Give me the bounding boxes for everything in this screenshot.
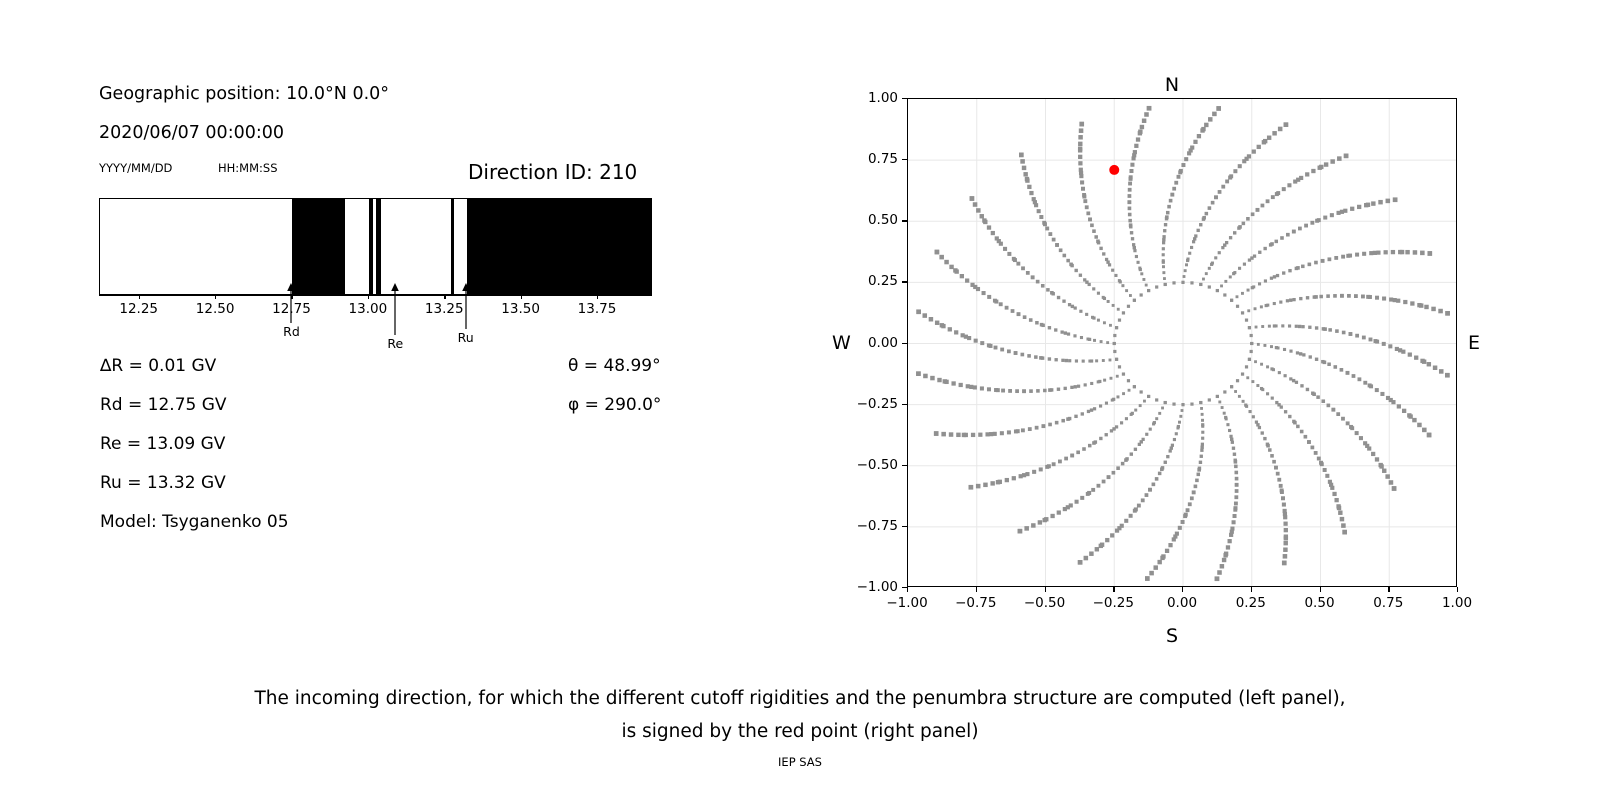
direction-dot	[1176, 426, 1179, 429]
direction-dot	[1103, 379, 1106, 382]
direction-dot	[1223, 412, 1226, 415]
direction-dot	[1184, 269, 1187, 272]
direction-dot	[1281, 324, 1284, 327]
direction-dot	[1173, 438, 1176, 441]
direction-dot	[1172, 403, 1175, 406]
direction-dot	[1361, 295, 1365, 299]
direction-dot	[1218, 251, 1221, 254]
direction-dot	[1323, 468, 1327, 472]
direction-dot	[1110, 533, 1114, 537]
direction-dot	[1276, 472, 1280, 476]
direction-dot	[970, 283, 974, 287]
direction-dot	[1079, 174, 1083, 178]
direction-dot	[1078, 142, 1082, 146]
direction-dot	[1044, 517, 1048, 521]
arrow-up-icon	[456, 283, 476, 329]
direction-dot	[1105, 402, 1108, 405]
direction-dot	[1268, 448, 1272, 452]
direction-dot	[1068, 359, 1071, 362]
direction-dot	[1108, 263, 1111, 266]
direction-dot	[1299, 176, 1303, 180]
direction-dot	[1093, 339, 1096, 342]
direction-dot	[1375, 388, 1379, 392]
direction-dot	[1190, 145, 1194, 149]
delta-r-value: ∆R = 0.01 GV	[100, 356, 216, 376]
x-axis-tick-label: −0.25	[1093, 595, 1134, 611]
direction-dot	[1255, 421, 1258, 424]
direction-dot	[1105, 258, 1108, 261]
x-axis-tick-label: −1.00	[886, 595, 927, 611]
x-axis-tick	[1457, 587, 1458, 592]
direction-dot	[1147, 395, 1150, 398]
y-axis-tick	[902, 404, 907, 405]
direction-dot	[1276, 274, 1279, 277]
direction-dot	[1306, 296, 1309, 299]
direction-dot	[1414, 356, 1418, 360]
direction-dot	[1048, 326, 1051, 329]
direction-dot	[1347, 294, 1351, 298]
direction-dot	[1005, 306, 1009, 310]
direction-dot	[1192, 490, 1196, 494]
compass-south-label: S	[1166, 625, 1178, 647]
direction-dot	[987, 225, 991, 229]
direction-dot	[1214, 256, 1217, 259]
direction-dot	[1230, 438, 1233, 441]
direction-dot	[1309, 355, 1312, 358]
direction-dot	[1031, 275, 1035, 279]
direction-dot	[1261, 325, 1264, 328]
direction-dot	[1097, 241, 1100, 244]
direction-dot	[1225, 417, 1228, 420]
direction-dot	[1116, 375, 1119, 378]
direction-dot	[1233, 514, 1237, 518]
direction-dot	[1066, 259, 1070, 263]
direction-dot	[1288, 269, 1291, 272]
direction-dot	[1080, 180, 1084, 184]
ru-value: Ru = 13.32 GV	[100, 473, 226, 493]
direction-dot	[1211, 201, 1215, 205]
direction-dot	[1427, 433, 1432, 438]
direction-dot	[1007, 430, 1011, 434]
direction-dot	[1330, 213, 1334, 217]
direction-dot	[1375, 296, 1379, 300]
cutoff-marker-label: Rd	[261, 324, 321, 339]
direction-dot	[1022, 389, 1026, 393]
direction-dot	[1238, 395, 1241, 398]
direction-dot	[1233, 271, 1236, 274]
direction-dot	[1105, 538, 1109, 542]
direction-dot	[1140, 272, 1143, 275]
direction-dot	[1289, 298, 1292, 301]
direction-dot	[1215, 576, 1220, 581]
direction-dot	[1106, 341, 1109, 344]
direction-dot	[1220, 564, 1224, 568]
direction-dot	[1172, 537, 1176, 541]
y-axis-tick-label: −1.00	[857, 579, 898, 595]
direction-dot	[1342, 530, 1347, 535]
direction-dot	[1162, 235, 1165, 238]
direction-dot	[1001, 389, 1005, 393]
direction-dot	[1286, 233, 1290, 237]
penumbra-forbidden-band	[376, 199, 381, 294]
arrow-up-icon	[281, 283, 301, 323]
direction-dot	[1216, 106, 1221, 111]
direction-dot	[1134, 409, 1137, 412]
direction-dot	[1253, 254, 1256, 257]
direction-dot	[1296, 351, 1299, 354]
direction-dot	[1307, 440, 1311, 444]
direction-dot	[999, 302, 1003, 306]
direction-dot	[1251, 380, 1254, 383]
direction-dot	[1336, 504, 1340, 508]
direction-dot	[1271, 397, 1274, 400]
direction-dot	[1382, 469, 1386, 473]
direction-dot	[987, 387, 991, 391]
y-axis-tick	[902, 159, 907, 160]
direction-dot	[1308, 326, 1311, 329]
direction-dot	[973, 202, 978, 207]
direction-dot	[1266, 365, 1269, 368]
direction-dot	[1199, 401, 1202, 404]
direction-dot	[1254, 307, 1257, 310]
direction-dot	[1021, 428, 1025, 432]
direction-dot	[1295, 267, 1298, 270]
direction-dot	[1193, 140, 1197, 144]
direction-dot	[1127, 200, 1131, 204]
direction-dot	[987, 295, 991, 299]
direction-dot	[1199, 461, 1202, 464]
direction-dot	[1202, 217, 1205, 220]
direction-dot	[1417, 303, 1421, 307]
direction-dot	[1335, 329, 1339, 333]
direction-dot	[1130, 413, 1133, 416]
direction-dot	[1311, 169, 1315, 173]
direction-dot	[1445, 373, 1450, 378]
direction-dot	[954, 330, 958, 334]
direction-dot	[1073, 334, 1076, 337]
direction-dot	[1165, 217, 1168, 220]
direction-dot	[1252, 149, 1256, 153]
direction-dot	[1181, 403, 1184, 406]
direction-dot	[1246, 376, 1249, 379]
direction-dot	[1155, 285, 1158, 288]
direction-dot	[1166, 455, 1169, 458]
geographic-position-label: Geographic position: 10.0°N 0.0°	[99, 84, 389, 104]
direction-dot	[1218, 190, 1222, 194]
direction-dot	[1405, 250, 1409, 254]
direction-dot	[1129, 175, 1133, 179]
direction-dot	[1318, 166, 1322, 170]
direction-dot	[1200, 455, 1203, 458]
direction-dot	[1034, 355, 1038, 359]
caption-line-1: The incoming direction, for which the di…	[0, 682, 1600, 715]
direction-dot	[1162, 241, 1165, 244]
direction-dot	[1252, 285, 1255, 288]
direction-dot	[1427, 362, 1431, 366]
direction-dot	[1064, 457, 1068, 461]
direction-dot	[1354, 294, 1358, 298]
direction-dot	[1199, 283, 1202, 286]
direction-dot	[1352, 374, 1356, 378]
direction-dot	[1124, 519, 1128, 523]
direction-dot	[1316, 395, 1320, 399]
direction-dot	[1357, 205, 1361, 209]
direction-dot	[983, 483, 987, 487]
direction-dot	[1241, 372, 1244, 375]
direction-dot	[1095, 547, 1099, 551]
direction-dot	[1133, 246, 1136, 249]
direction-dot	[1042, 221, 1046, 225]
x-axis-tick	[1388, 587, 1389, 592]
direction-dot	[1181, 409, 1184, 412]
direction-dot	[1278, 371, 1281, 374]
direction-dot	[1275, 324, 1278, 327]
direction-dot	[1172, 281, 1175, 284]
direction-dot	[1064, 331, 1067, 334]
direction-dot	[1266, 304, 1269, 307]
direction-dot	[1055, 243, 1059, 247]
direction-dot	[1283, 348, 1286, 351]
direction-dot	[1078, 155, 1082, 159]
direction-dot	[1079, 274, 1082, 277]
direction-dot	[1427, 251, 1432, 256]
direction-dot	[1035, 426, 1039, 430]
direction-dot	[1238, 164, 1242, 168]
direction-dot	[982, 291, 986, 295]
direction-dot	[1230, 385, 1233, 388]
direction-dot	[1061, 419, 1065, 423]
direction-dot	[1152, 483, 1156, 487]
direction-dot	[1125, 289, 1128, 292]
direction-dot	[1300, 384, 1303, 387]
direction-dot	[1134, 448, 1137, 451]
direction-dot	[1057, 510, 1061, 514]
direction-dot	[1084, 556, 1089, 561]
direction-dot	[1059, 248, 1063, 252]
direction-dot	[1412, 418, 1416, 422]
direction-dot	[1092, 287, 1095, 290]
direction-dot	[916, 309, 921, 314]
direction-dot	[1183, 275, 1186, 278]
direction-dot	[1226, 423, 1229, 426]
direction-dot	[1175, 432, 1178, 435]
direction-dot	[1233, 508, 1237, 512]
direction-dot	[1217, 570, 1222, 575]
direction-dot	[1258, 426, 1261, 429]
direction-dot	[1128, 213, 1132, 217]
direction-dot	[1082, 447, 1086, 451]
direction-dot	[980, 341, 984, 345]
direction-dot	[929, 317, 933, 321]
direction-dot	[1327, 404, 1331, 408]
direction-dot	[1280, 236, 1284, 240]
direction-dot	[1029, 389, 1033, 393]
direction-dot	[1050, 514, 1054, 518]
compass-west-label: W	[832, 332, 851, 354]
selected-direction-point[interactable]	[1109, 165, 1119, 175]
direction-dot	[1295, 381, 1298, 384]
direction-dot	[1145, 493, 1149, 497]
axis-tick	[215, 295, 216, 299]
direction-dot	[1276, 346, 1279, 349]
direction-dot	[1079, 128, 1084, 133]
direction-dot	[916, 371, 921, 376]
direction-dot	[1116, 395, 1119, 398]
direction-dot	[980, 386, 984, 390]
direction-dot	[1177, 175, 1181, 179]
direction-dot	[1380, 392, 1384, 396]
direction-dot	[1060, 330, 1063, 333]
x-axis-tick-label: −0.50	[1024, 595, 1065, 611]
direction-dot	[1304, 224, 1308, 228]
direction-dot	[1257, 145, 1261, 149]
direction-dot	[1266, 443, 1269, 446]
direction-dot	[1132, 243, 1135, 246]
direction-dot	[1324, 162, 1328, 166]
direction-dot	[1327, 362, 1331, 366]
direction-dot	[1086, 338, 1089, 341]
direction-dot	[1088, 444, 1092, 448]
direction-dot	[1162, 247, 1165, 250]
direction-dot	[1078, 148, 1082, 152]
direction-dot	[1162, 271, 1165, 274]
direction-dot	[985, 432, 989, 436]
direction-dot	[1188, 502, 1192, 506]
direction-dot	[1023, 172, 1027, 176]
direction-dot	[1170, 193, 1174, 197]
direction-dot	[1083, 199, 1087, 203]
direction-dot	[939, 255, 944, 260]
direction-dot	[1284, 541, 1288, 545]
direction-dot	[1284, 122, 1289, 127]
direction-dot	[1340, 368, 1344, 372]
direction-dot	[1301, 265, 1305, 269]
direction-dot	[941, 432, 946, 437]
direction-dot	[1043, 389, 1047, 393]
direction-dot	[1330, 486, 1334, 490]
direction-dot	[1149, 571, 1154, 576]
direction-dot	[1114, 274, 1117, 277]
direction-dot	[1439, 369, 1444, 374]
x-axis-tick	[1251, 587, 1252, 592]
direction-dot	[1392, 486, 1397, 491]
direction-dot	[1029, 318, 1033, 322]
direction-dot	[1395, 347, 1399, 351]
direction-dot	[1305, 172, 1309, 176]
direction-dot	[1164, 283, 1167, 286]
penumbra-forbidden-band	[451, 199, 454, 294]
direction-dot	[1095, 359, 1098, 362]
direction-dot	[1272, 131, 1276, 135]
direction-dot	[1389, 480, 1394, 485]
cutoff-marker-label: Re	[365, 336, 425, 351]
direction-dot	[1130, 163, 1134, 167]
direction-dot	[1341, 255, 1345, 259]
direction-dot	[1021, 353, 1025, 357]
direction-dot	[1241, 311, 1244, 314]
direction-dot	[1346, 371, 1350, 375]
direction-dot	[1052, 238, 1056, 242]
direction-dot	[1379, 463, 1383, 467]
direction-dot	[1201, 425, 1204, 428]
direction-dot	[1069, 503, 1073, 507]
direction-dot	[1193, 237, 1196, 240]
direction-dot	[1113, 350, 1116, 353]
direction-dot	[1149, 428, 1152, 431]
direction-dot	[922, 313, 927, 318]
direction-dot	[1000, 348, 1004, 352]
direction-dot	[1078, 135, 1082, 139]
direction-dot	[1433, 366, 1437, 370]
direction-dot	[1403, 300, 1407, 304]
axis-tick-label: 13.50	[501, 301, 540, 317]
direction-dot	[1233, 231, 1236, 234]
direction-dot	[1112, 471, 1116, 475]
direction-dot	[1190, 281, 1193, 284]
direction-dot	[1250, 342, 1253, 345]
direction-dot	[1023, 315, 1027, 319]
cutoff-marker-rd: Rd	[261, 283, 321, 339]
direction-dot	[1129, 294, 1132, 297]
direction-dot	[1375, 340, 1379, 344]
direction-dot	[1417, 423, 1421, 427]
direction-dot	[1029, 191, 1033, 195]
direction-dot	[1140, 125, 1144, 129]
direction-dot	[1263, 437, 1266, 440]
direction-dot	[1250, 334, 1253, 337]
direction-dot	[1162, 253, 1165, 256]
direction-dot	[1011, 309, 1015, 313]
direction-dot	[1367, 446, 1371, 450]
direction-dot	[1289, 350, 1292, 353]
direction-dot	[1118, 319, 1121, 322]
direction-dot	[1273, 275, 1276, 278]
direction-dot	[1332, 492, 1336, 496]
direction-dot	[1431, 307, 1435, 311]
direction-dot	[1063, 254, 1067, 258]
direction-dot	[1279, 301, 1282, 304]
direction-dot	[1158, 412, 1161, 415]
direction-dot	[965, 278, 969, 282]
direction-dot	[1140, 293, 1143, 296]
direction-dot	[1109, 324, 1112, 327]
direction-dot	[1420, 359, 1424, 363]
y-axis-tick	[902, 465, 907, 466]
direction-dot	[1097, 319, 1100, 322]
direction-dot	[1328, 257, 1332, 261]
direction-dot	[1061, 359, 1064, 362]
direction-dot	[1155, 398, 1158, 401]
direction-dot	[1130, 231, 1133, 234]
direction-dot	[1014, 351, 1018, 355]
direction-dot	[1328, 480, 1332, 484]
direction-dot	[1336, 211, 1340, 215]
direction-dot	[1081, 187, 1085, 191]
caption-line-2: is signed by the red point (right panel)	[0, 715, 1600, 748]
direction-dot	[949, 432, 953, 436]
y-axis-tick	[902, 343, 907, 344]
direction-dot	[1289, 377, 1292, 380]
direction-dot	[1042, 424, 1046, 428]
direction-dot	[1039, 467, 1043, 471]
axis-tick-label: 12.25	[119, 301, 158, 317]
direction-dot	[1385, 474, 1389, 478]
direction-dot	[1281, 496, 1285, 500]
direction-dot	[1298, 227, 1302, 231]
direction-dot	[1386, 396, 1390, 400]
direction-dot	[1134, 144, 1138, 148]
direction-dot	[991, 231, 995, 235]
